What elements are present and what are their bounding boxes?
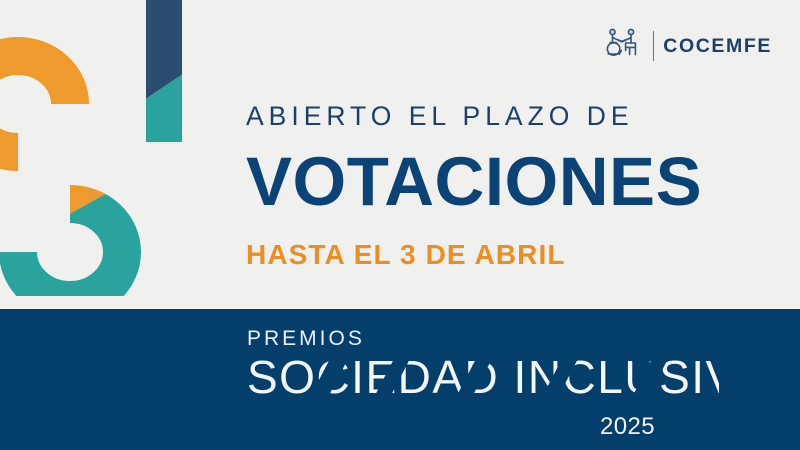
svg-text:SOCIEDAD INCLUSIVA: SOCIEDAD INCLUSIVA xyxy=(247,353,719,403)
si-logo xyxy=(0,0,192,296)
cocemfe-wordmark: COCEMFE xyxy=(663,35,772,58)
premios-label: PREMIOS xyxy=(247,328,727,349)
promo-banner: COCEMFE ABIERTO EL PLAZO DE VOTACIONES H… xyxy=(0,0,800,450)
lockup-divider xyxy=(653,31,654,61)
award-band: PREMIOS xyxy=(0,309,800,450)
award-name: SOCIEDAD INCLUSIVA xyxy=(247,353,727,405)
award-year: 2025 xyxy=(600,415,655,439)
accessibility-handshake-icon xyxy=(604,27,644,66)
award-band-inner: PREMIOS xyxy=(247,328,727,405)
si-logo-s xyxy=(0,56,122,296)
cocemfe-lockup: COCEMFE xyxy=(604,27,772,65)
si-logo-i xyxy=(146,0,182,142)
deadline-text: HASTA EL 3 DE ABRIL xyxy=(246,216,766,269)
headline-kicker: ABIERTO EL PLAZO DE xyxy=(246,103,766,130)
headline-block: ABIERTO EL PLAZO DE VOTACIONES HASTA EL … xyxy=(246,103,766,269)
page-title: VOTACIONES xyxy=(246,130,766,216)
